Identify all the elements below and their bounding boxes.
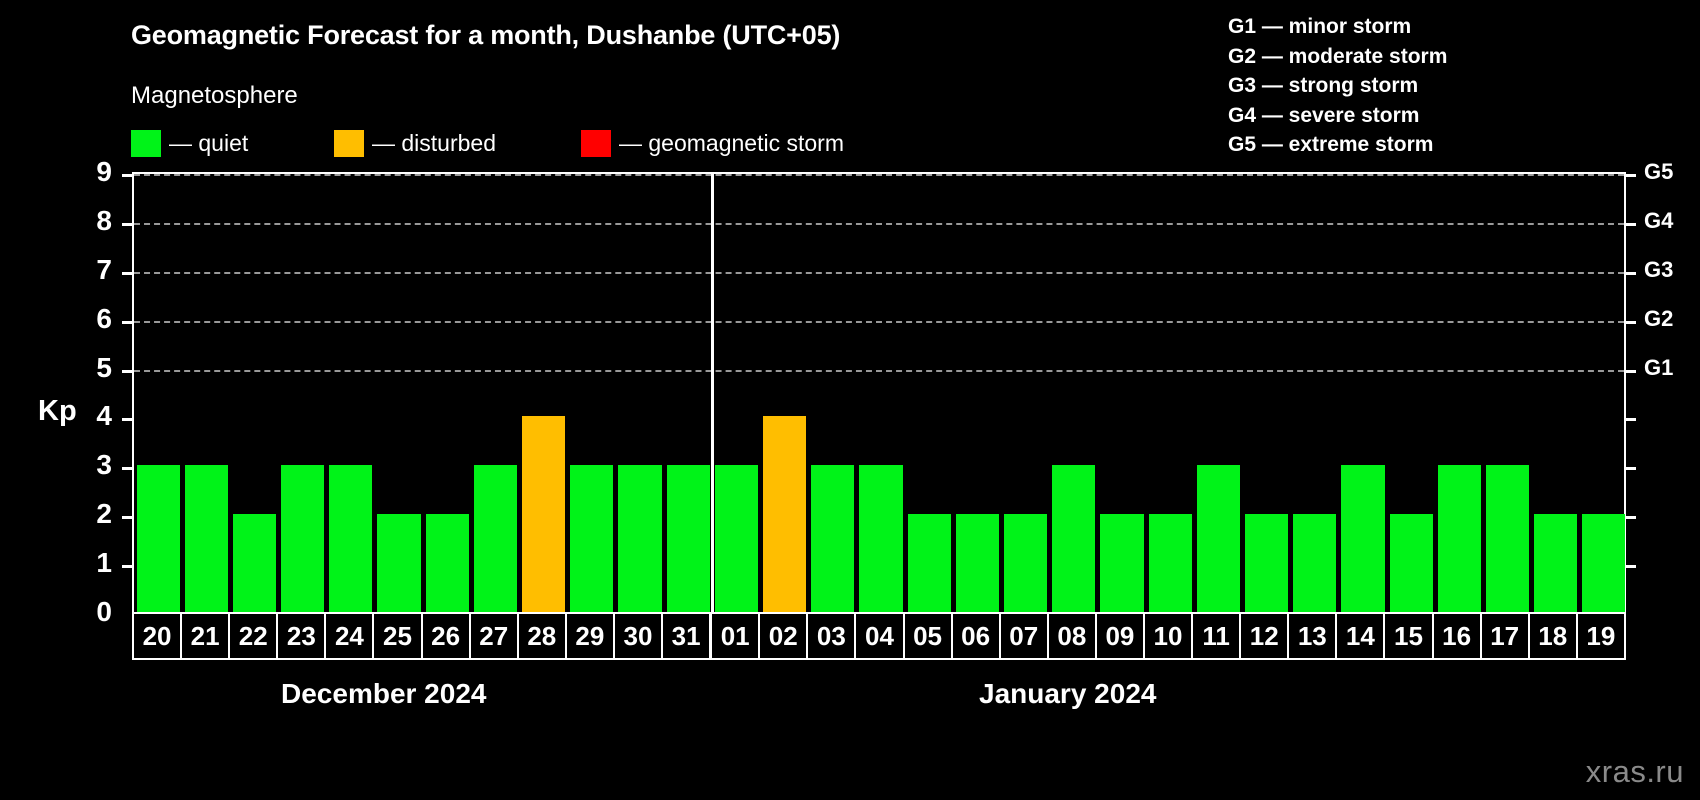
date-label-21[interactable]: 21	[182, 614, 230, 658]
date-label-15[interactable]: 15	[1385, 614, 1433, 658]
date-label-16[interactable]: 16	[1434, 614, 1482, 658]
y-tick-right-9	[1626, 174, 1636, 177]
g-axis-tick-label-G3: G3	[1644, 257, 1700, 283]
bar-day-02[interactable]	[763, 416, 806, 612]
g-scale-line-1: G1 — minor storm	[1228, 12, 1447, 42]
bar-day-24[interactable]	[329, 465, 372, 612]
y-tick-left-9	[122, 174, 132, 177]
bar-day-19[interactable]	[1582, 514, 1625, 612]
y-axis-tick-label-3: 3	[72, 449, 112, 481]
bar-day-05[interactable]	[908, 514, 951, 612]
bar-day-12[interactable]	[1245, 514, 1288, 612]
bar-day-10[interactable]	[1149, 514, 1192, 612]
y-tick-left-4	[122, 418, 132, 421]
bar-day-04[interactable]	[859, 465, 902, 612]
month-caption-january: January 2024	[979, 678, 1156, 710]
y-tick-right-5	[1626, 370, 1636, 373]
month-caption-december: December 2024	[281, 678, 486, 710]
date-label-30[interactable]: 30	[615, 614, 663, 658]
y-tick-right-2	[1626, 516, 1636, 519]
date-label-03[interactable]: 03	[808, 614, 856, 658]
bar-day-30[interactable]	[618, 465, 661, 612]
date-label-24[interactable]: 24	[326, 614, 374, 658]
y-tick-left-1	[122, 565, 132, 568]
date-label-09[interactable]: 09	[1097, 614, 1145, 658]
y-tick-right-1	[1626, 565, 1636, 568]
y-tick-right-6	[1626, 321, 1636, 324]
date-label-27[interactable]: 27	[471, 614, 519, 658]
date-label-14[interactable]: 14	[1337, 614, 1385, 658]
bar-day-23[interactable]	[281, 465, 324, 612]
g-scale-line-2: G2 — moderate storm	[1228, 42, 1447, 72]
bar-day-15[interactable]	[1390, 514, 1433, 612]
plot-area	[132, 172, 1626, 612]
g-axis-tick-label-G1: G1	[1644, 355, 1700, 381]
date-label-08[interactable]: 08	[1049, 614, 1097, 658]
date-label-05[interactable]: 05	[905, 614, 953, 658]
bar-day-21[interactable]	[185, 465, 228, 612]
date-label-10[interactable]: 10	[1145, 614, 1193, 658]
y-axis-tick-label-6: 6	[72, 303, 112, 335]
date-label-23[interactable]: 23	[278, 614, 326, 658]
date-label-26[interactable]: 26	[423, 614, 471, 658]
g-scale-line-3: G3 — strong storm	[1228, 71, 1447, 101]
bar-day-26[interactable]	[426, 514, 469, 612]
bar-day-01[interactable]	[715, 465, 758, 612]
legend-swatch-disturbed-icon	[334, 130, 364, 157]
bar-day-09[interactable]	[1100, 514, 1143, 612]
legend-label-disturbed: — disturbed	[372, 130, 496, 157]
date-label-13[interactable]: 13	[1289, 614, 1337, 658]
y-axis-tick-label-5: 5	[72, 352, 112, 384]
y-tick-left-8	[122, 223, 132, 226]
watermark: xras.ru	[1586, 754, 1684, 790]
g-scale-line-5: G5 — extreme storm	[1228, 130, 1447, 160]
bar-day-27[interactable]	[474, 465, 517, 612]
bar-day-16[interactable]	[1438, 465, 1481, 612]
date-label-04[interactable]: 04	[856, 614, 904, 658]
y-tick-right-8	[1626, 223, 1636, 226]
geomagnetic-forecast-chart: Geomagnetic Forecast for a month, Dushan…	[0, 0, 1700, 800]
y-tick-right-7	[1626, 272, 1636, 275]
date-label-01[interactable]: 01	[712, 614, 760, 658]
y-tick-left-5	[122, 370, 132, 373]
legend-label-quiet: — quiet	[169, 130, 248, 157]
bar-day-11[interactable]	[1197, 465, 1240, 612]
date-label-07[interactable]: 07	[1001, 614, 1049, 658]
legend-item-quiet: — quiet	[131, 128, 248, 158]
bar-day-25[interactable]	[377, 514, 420, 612]
y-axis-tick-label-7: 7	[72, 254, 112, 286]
bar-day-06[interactable]	[956, 514, 999, 612]
legend-swatch-quiet-icon	[131, 130, 161, 157]
date-label-22[interactable]: 22	[230, 614, 278, 658]
bar-day-18[interactable]	[1534, 514, 1577, 612]
date-label-20[interactable]: 20	[134, 614, 182, 658]
bar-day-20[interactable]	[137, 465, 180, 612]
legend-label-geomagnetic-storm: — geomagnetic storm	[619, 130, 844, 157]
y-tick-right-3	[1626, 467, 1636, 470]
g-scale-line-4: G4 — severe storm	[1228, 101, 1447, 131]
y-tick-right-4	[1626, 418, 1636, 421]
y-axis-tick-label-1: 1	[72, 547, 112, 579]
legend-item-disturbed: — disturbed	[334, 128, 496, 158]
magnetosphere-section-label: Magnetosphere	[131, 82, 298, 110]
month-divider	[711, 174, 714, 612]
bar-day-13[interactable]	[1293, 514, 1336, 612]
y-tick-left-6	[122, 321, 132, 324]
legend-swatch-geomagnetic-storm-icon	[581, 130, 611, 157]
bar-day-29[interactable]	[570, 465, 613, 612]
y-axis-tick-label-8: 8	[72, 205, 112, 237]
g-scale-legend: G1 — minor stormG2 — moderate stormG3 — …	[1228, 12, 1447, 160]
g-axis-tick-label-G5: G5	[1644, 159, 1700, 185]
g-axis-tick-label-G4: G4	[1644, 208, 1700, 234]
bar-day-08[interactable]	[1052, 465, 1095, 612]
y-axis-title: Kp	[38, 395, 77, 428]
date-label-02[interactable]: 02	[760, 614, 808, 658]
date-label-06[interactable]: 06	[953, 614, 1001, 658]
y-axis-tick-label-0: 0	[72, 596, 112, 628]
y-tick-left-7	[122, 272, 132, 275]
y-axis-tick-label-9: 9	[72, 156, 112, 188]
date-label-18[interactable]: 18	[1530, 614, 1578, 658]
bar-day-28[interactable]	[522, 416, 565, 612]
bar-day-17[interactable]	[1486, 465, 1529, 612]
g-axis-tick-label-G2: G2	[1644, 306, 1700, 332]
legend-item-geomagnetic-storm: — geomagnetic storm	[581, 128, 844, 158]
date-label-29[interactable]: 29	[567, 614, 615, 658]
bar-day-31[interactable]	[667, 465, 710, 612]
date-label-28[interactable]: 28	[519, 614, 567, 658]
bar-day-03[interactable]	[811, 465, 854, 612]
page-title: Geomagnetic Forecast for a month, Dushan…	[131, 20, 840, 51]
y-axis-tick-label-2: 2	[72, 498, 112, 530]
y-tick-left-3	[122, 467, 132, 470]
bar-series	[134, 174, 1624, 612]
date-label-25[interactable]: 25	[374, 614, 422, 658]
date-label-17[interactable]: 17	[1482, 614, 1530, 658]
date-label-19[interactable]: 19	[1578, 614, 1624, 658]
y-tick-left-2	[122, 516, 132, 519]
date-axis-strip: 2021222324252627282930310102030405060708…	[132, 612, 1626, 660]
bar-day-22[interactable]	[233, 514, 276, 612]
date-label-11[interactable]: 11	[1193, 614, 1241, 658]
date-label-31[interactable]: 31	[663, 614, 712, 658]
bar-day-07[interactable]	[1004, 514, 1047, 612]
bar-day-14[interactable]	[1341, 465, 1384, 612]
date-label-12[interactable]: 12	[1241, 614, 1289, 658]
y-axis-tick-label-4: 4	[72, 400, 112, 432]
